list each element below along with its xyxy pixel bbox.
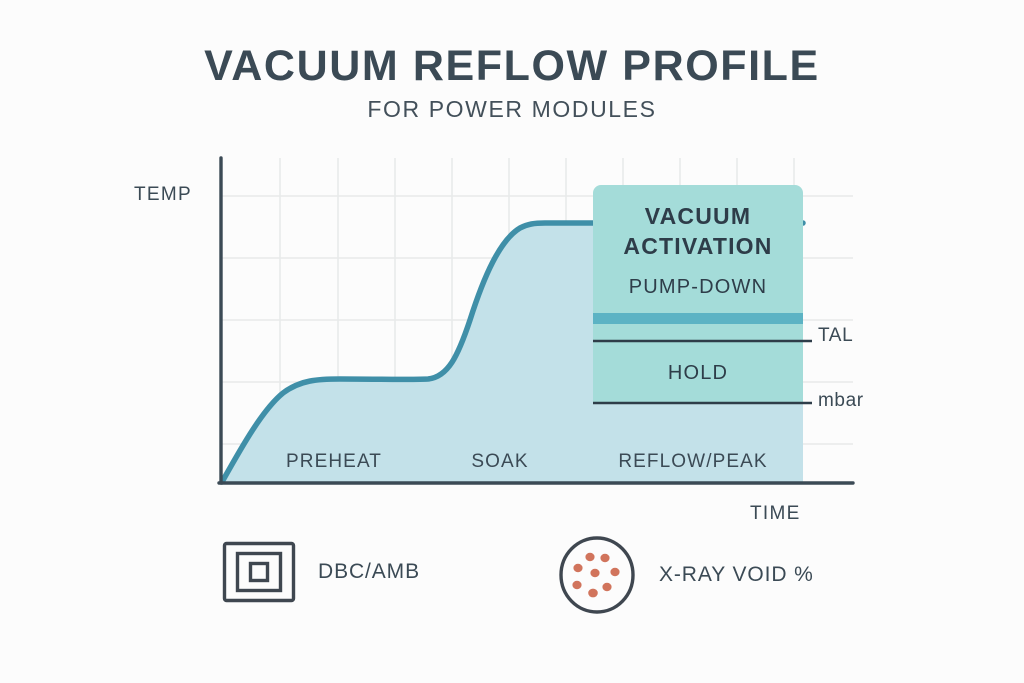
- phase-label-preheat: PREHEAT: [254, 451, 414, 473]
- phase-label-soak: SOAK: [420, 451, 580, 473]
- y-axis-label: TEMP: [134, 184, 192, 206]
- infographic-canvas: VACUUM REFLOW PROFILE FOR POWER MODULES: [0, 0, 1024, 683]
- vacuum-tal-band: [593, 313, 803, 324]
- vacuum-box-title-line1: VACUUM: [593, 203, 803, 230]
- reflow-profile-chart: TEMP TIME PREHEAT SOAK REFLOW/PEAK VACUU…: [0, 0, 1024, 683]
- legend-label-xray-void: X-RAY VOID %: [659, 563, 814, 587]
- phase-label-reflow-peak: REFLOW/PEAK: [598, 451, 788, 473]
- chart-svg: [0, 0, 1024, 683]
- tal-label: TAL: [818, 325, 853, 347]
- legend-item-xray-void: X-RAY VOID %: [557, 535, 814, 615]
- mbar-label: mbar: [818, 390, 864, 412]
- vacuum-box-stage-hold: HOLD: [593, 362, 803, 385]
- x-axis-label: TIME: [750, 503, 801, 525]
- vacuum-box-stage-pump-down: PUMP-DOWN: [593, 276, 803, 299]
- void-dots-circle-icon: [557, 535, 637, 615]
- nested-squares-icon: [222, 535, 296, 609]
- legend-item-dbc-amb: DBC/AMB: [222, 535, 420, 609]
- legend-label-dbc-amb: DBC/AMB: [318, 560, 420, 584]
- vacuum-box-title-line2: ACTIVATION: [593, 233, 803, 260]
